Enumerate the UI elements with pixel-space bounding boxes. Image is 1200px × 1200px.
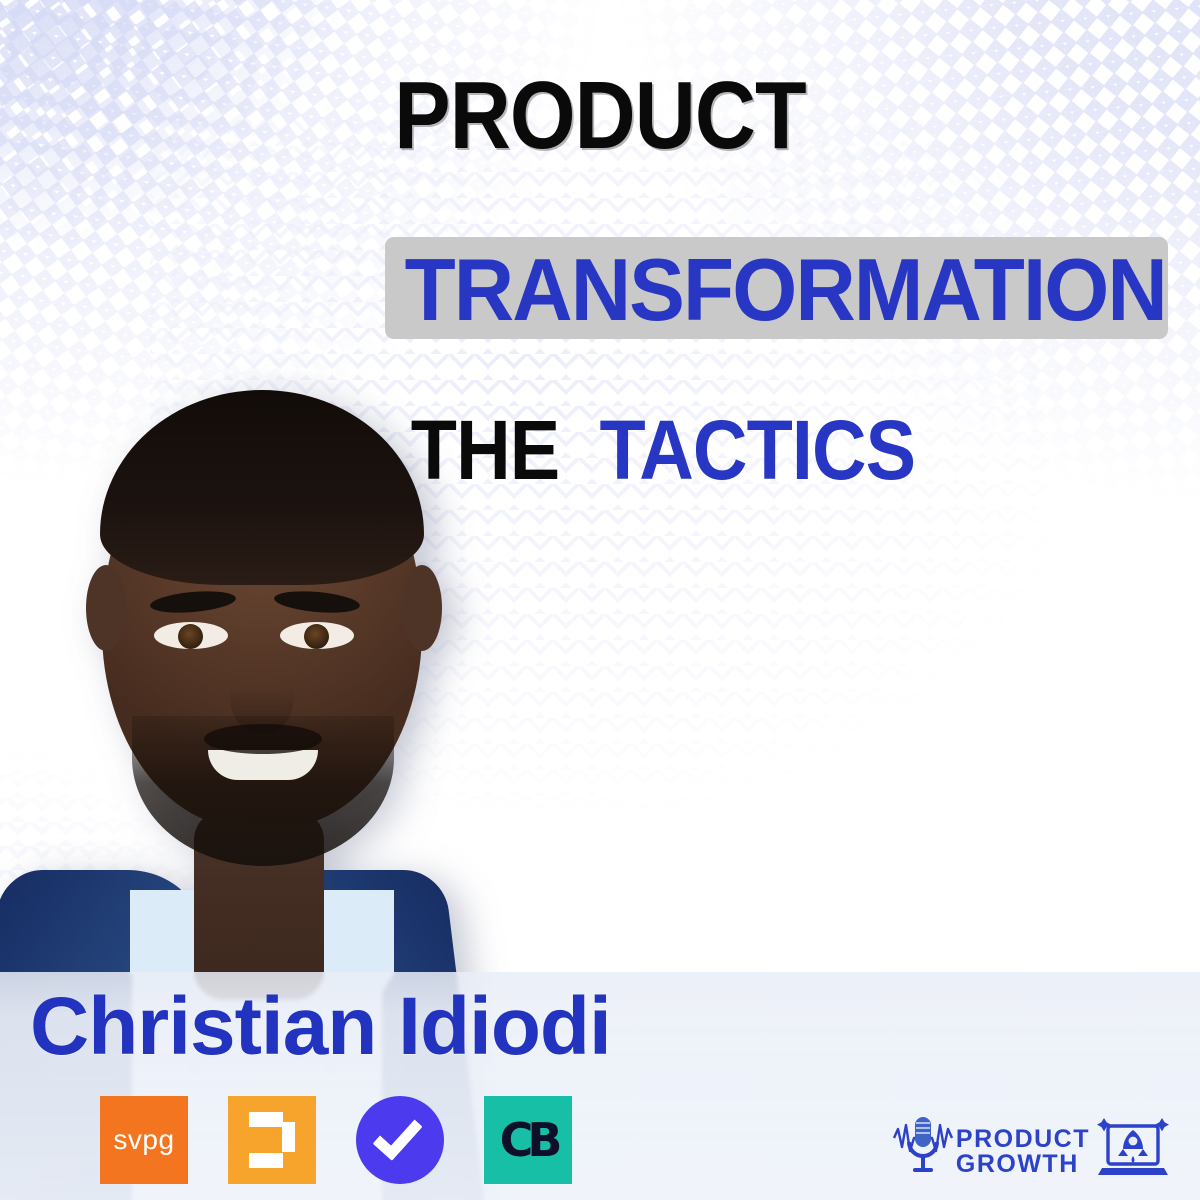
poster-canvas: PRODUCT TRANSFORMATION THE TACTICS <box>0 0 1200 1200</box>
product-growth-wordmark: PRODUCT GROWTH <box>956 1127 1090 1178</box>
headline-line-product: PRODUCT <box>72 68 1128 164</box>
eye-left <box>154 622 228 649</box>
headline-word-the: THE <box>411 403 560 497</box>
podcast-logo-line2: GROWTH <box>956 1152 1090 1178</box>
brand-logo-strip: svpg CB <box>100 1096 572 1184</box>
product-growth-logo[interactable]: PRODUCT GROWTH <box>892 1110 1172 1184</box>
ear-left <box>86 565 126 651</box>
ear-right <box>402 565 442 651</box>
svpg-logo[interactable]: svpg <box>100 1096 188 1184</box>
headline-line-transformation: TRANSFORMATION <box>405 245 1149 335</box>
rocket-laptop-icon <box>1094 1110 1172 1184</box>
amplitude-logo[interactable] <box>228 1096 316 1184</box>
mouth <box>208 750 318 780</box>
speaker-name: Christian Idiodi <box>30 986 611 1068</box>
checkmark-icon <box>373 1109 423 1161</box>
headline-word-tactics: TACTICS <box>600 403 916 497</box>
checkmark-logo[interactable] <box>356 1096 444 1184</box>
moustache <box>204 724 322 754</box>
eye-right <box>280 622 354 649</box>
amplitude-glyph-icon <box>249 1112 295 1168</box>
svpg-logo-label: svpg <box>113 1124 174 1156</box>
cb-logo-label: CB <box>500 1113 557 1167</box>
podcast-logo-line1: PRODUCT <box>956 1127 1090 1153</box>
cb-logo[interactable]: CB <box>484 1096 572 1184</box>
microphone-icon <box>892 1112 954 1182</box>
headline-line-tactics: THE TACTICS <box>60 408 1140 492</box>
